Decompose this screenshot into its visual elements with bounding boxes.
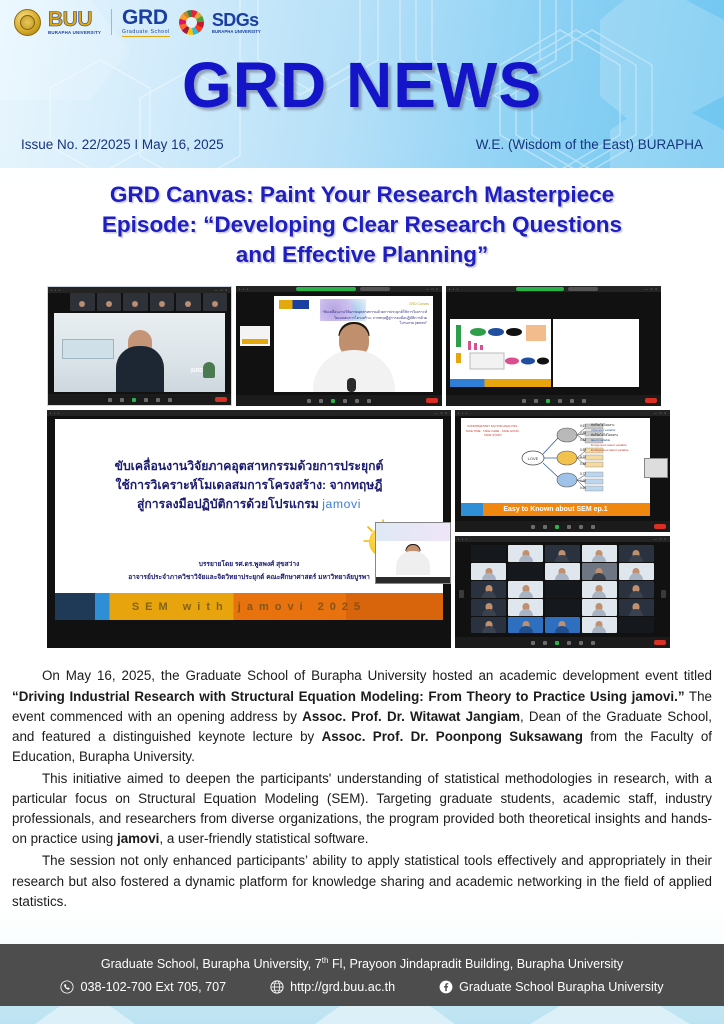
page-footer-wrapper: Graduate School, Burapha University, 7th… bbox=[0, 944, 724, 1024]
zoom-controls-pill bbox=[360, 287, 390, 291]
grd-logo-sub: Graduate School bbox=[122, 30, 170, 37]
sem-legend: สิ่งที่วัดได้โดยตรง observed variable สิ… bbox=[591, 423, 647, 453]
zoom-toolbar bbox=[236, 395, 442, 406]
gallery-prev-arrow[interactable] bbox=[459, 590, 464, 598]
slide-thai-line-1: ขับเคลื่อนงานวิจัยภาคอุตสาหกรรมด้วยการปร… bbox=[69, 457, 429, 476]
collage-photo-webcam-speaker: • • •— □ × jGRD bbox=[47, 286, 232, 406]
zoom-toolbar bbox=[48, 394, 231, 405]
grd-logo: GRD Graduate School bbox=[122, 7, 170, 37]
p1-bold-dean: Assoc. Prof. Dr. Witawat Jangiam bbox=[302, 709, 520, 724]
p1-bold-keynote: Assoc. Prof. Dr. Poonpong Suksawang bbox=[322, 729, 583, 744]
slide-page-indicator bbox=[55, 593, 95, 620]
event-title-line-3: and Effective Planning” bbox=[22, 240, 702, 270]
event-title-line-1: GRD Canvas: Paint Your Research Masterpi… bbox=[22, 180, 702, 210]
article-paragraph-1: On May 16, 2025, the Graduate School of … bbox=[12, 666, 712, 767]
zoom-toolbar bbox=[446, 395, 661, 406]
statistics-diagram bbox=[450, 319, 551, 379]
svg-text:0.67: 0.67 bbox=[580, 424, 586, 428]
collage-right-column: • • •— □ × CONFIRMATORY FACTOR ANALYSIS … bbox=[455, 410, 670, 648]
phone-icon bbox=[60, 980, 74, 994]
zoom-recording-indicator bbox=[296, 287, 356, 291]
sdgs-logo-word: SDGs bbox=[212, 11, 261, 29]
slide-chart-pane bbox=[450, 319, 551, 387]
svg-text:0.72: 0.72 bbox=[580, 472, 586, 476]
article-body: On May 16, 2025, the Graduate School of … bbox=[12, 666, 712, 911]
collage-row-1: • • •— □ × jGRD • • •— □ × bbox=[47, 286, 677, 406]
footer-phone-text: 038-102-700 Ext 705, 707 bbox=[80, 980, 226, 994]
inset-slide-backdrop bbox=[376, 523, 450, 541]
speaker-body bbox=[396, 551, 430, 575]
svg-text:0.59: 0.59 bbox=[580, 462, 586, 466]
plant-decor bbox=[203, 362, 215, 378]
buu-logo-word: BUU bbox=[48, 9, 101, 30]
zoom-titlebar: • • •— □ × bbox=[455, 536, 670, 542]
p1-bold-title: “Driving Industrial Research with Struct… bbox=[12, 689, 685, 704]
grd-logo-word: GRD bbox=[122, 7, 170, 28]
footer-contacts: 038-102-700 Ext 705, 707 http://grd.buu.… bbox=[60, 980, 663, 994]
svg-text:0.59: 0.59 bbox=[580, 448, 586, 452]
svg-text:0.74: 0.74 bbox=[580, 455, 586, 459]
svg-text:0.83: 0.83 bbox=[580, 438, 586, 442]
svg-text:0.69: 0.69 bbox=[580, 479, 586, 483]
footer-address-pre: Graduate School, Burapha University, 7 bbox=[101, 958, 322, 972]
slide-thai-line-2: ใช้การวิเคราะห์โมเดลสมการโครงสร้าง: จากท… bbox=[69, 476, 429, 495]
wall-art bbox=[62, 339, 114, 359]
svg-text:0.85: 0.85 bbox=[580, 431, 586, 435]
buu-logo: BUU BURAPHA UNIVERSITY bbox=[48, 9, 101, 35]
collage-photo-participants-gallery: • • •— □ × bbox=[455, 536, 670, 648]
article-paragraph-2: This initiative aimed to deepen the part… bbox=[12, 769, 712, 849]
newsletter-page: BUU BURAPHA UNIVERSITY GRD Graduate Scho… bbox=[0, 0, 724, 1024]
globe-icon bbox=[270, 980, 284, 994]
collage-row-2: • • •— □ × ขับเคลื่อนงานวิจัยภาคอุตสาหกร… bbox=[47, 410, 677, 648]
speaker-inset-video bbox=[644, 458, 668, 478]
logo-bar: BUU BURAPHA UNIVERSITY GRD Graduate Scho… bbox=[14, 7, 261, 37]
logo-divider bbox=[111, 9, 112, 35]
inset-nameplate bbox=[376, 577, 450, 583]
slide-thai-line-3-text: สู่การลงมือปฏิบัติการด้วยโปรแกรม bbox=[137, 497, 322, 511]
sem-legend-item-4-en: Endogenous latent variable bbox=[591, 448, 647, 453]
burapha-seal-icon bbox=[14, 9, 41, 36]
sdg-wheel-icon bbox=[179, 10, 204, 35]
presentation-slide: CONFIRMATORY FACTOR ANALYSIS · TAKE TIME… bbox=[461, 418, 650, 516]
footer-phone[interactable]: 038-102-700 Ext 705, 707 bbox=[60, 980, 226, 994]
zoom-toolbar bbox=[455, 521, 670, 532]
sdgs-logo-sub: BURAPHA UNIVERSITY bbox=[212, 30, 261, 34]
event-title: GRD Canvas: Paint Your Research Masterpi… bbox=[0, 180, 724, 270]
zoom-side-thumbnail bbox=[240, 326, 270, 346]
p1-text-1: On May 16, 2025, the Graduate School of … bbox=[42, 668, 712, 683]
collage-photo-main-title-slide: • • •— □ × ขับเคลื่อนงานวิจัยภาคอุตสาหกร… bbox=[47, 410, 451, 648]
page-title: GRD NEWS bbox=[0, 48, 724, 122]
p2-text-2: , a user-friendly statistical software. bbox=[159, 831, 368, 846]
slide-heading: GRD Canvas bbox=[409, 302, 429, 306]
footer-facebook[interactable]: Graduate School Burapha University bbox=[439, 980, 663, 994]
slide-thai-line-3: สู่การลงมือปฏิบัติการด้วยโปรแกรม jamovi bbox=[69, 495, 429, 514]
sem-banner: Easy to Known about SEM ep.1 bbox=[461, 503, 650, 516]
sdgs-logo: SDGs BURAPHA UNIVERSITY bbox=[212, 11, 261, 34]
collage-photo-sem-diagram: • • •— □ × CONFIRMATORY FACTOR ANALYSIS … bbox=[455, 410, 670, 532]
zoom-titlebar: • • •— □ × bbox=[455, 410, 670, 416]
footer-address-post: Fl, Prayoon Jindapradit Building, Buraph… bbox=[328, 958, 623, 972]
page-footer: Graduate School, Burapha University, 7th… bbox=[0, 944, 724, 1006]
speaker-body bbox=[116, 346, 164, 392]
zoom-recording-indicator bbox=[516, 287, 564, 291]
event-title-line-2: Episode: “Developing Clear Research Ques… bbox=[22, 210, 702, 240]
slide-thai-heading: ขับเคลื่อนงานวิจัยภาคอุตสาหกรรมด้วยการปร… bbox=[69, 457, 429, 514]
speaker-inset-video bbox=[375, 522, 451, 584]
photo-collage: • • •— □ × jGRD • • •— □ × bbox=[47, 286, 677, 648]
collage-photo-slide-speaker: • • •— □ × GRD Canvas “ขับเคลื่อนงานวิจั… bbox=[236, 286, 442, 406]
svg-text:LOVE: LOVE bbox=[528, 456, 539, 461]
sem-left-notes: CONFIRMATORY FACTOR ANALYSIS · TAKE TIME… bbox=[465, 424, 521, 437]
slide-ribbon-banner: SEM with jamovi 2025 bbox=[55, 593, 443, 620]
footer-website-text: http://grd.buu.ac.th bbox=[290, 980, 395, 994]
buu-logo-sub: BURAPHA UNIVERSITY bbox=[48, 31, 101, 35]
zoom-thumbnail-strip bbox=[70, 293, 227, 311]
zoom-controls-pill bbox=[568, 287, 598, 291]
zoom-toolbar bbox=[455, 637, 670, 648]
facebook-icon bbox=[439, 980, 453, 994]
svg-text:0.61: 0.61 bbox=[580, 486, 586, 490]
p2-bold-jamovi: jamovi bbox=[117, 831, 159, 846]
footer-website[interactable]: http://grd.buu.ac.th bbox=[270, 980, 395, 994]
slide-speaker-pane bbox=[553, 319, 639, 387]
sem-banner-corner bbox=[461, 503, 483, 516]
tagline-label: W.E. (Wisdom of the East) BURAPHA bbox=[476, 137, 703, 152]
issue-label: Issue No. 22/2025 I May 16, 2025 bbox=[21, 137, 224, 152]
slide-logo bbox=[279, 300, 309, 309]
page-header: BUU BURAPHA UNIVERSITY GRD Graduate Scho… bbox=[0, 0, 724, 168]
slide-footer-band bbox=[450, 379, 551, 387]
article-paragraph-3: The session not only enhanced participan… bbox=[12, 851, 712, 911]
gallery-next-arrow[interactable] bbox=[661, 590, 666, 598]
footer-address: Graduate School, Burapha University, 7th… bbox=[101, 956, 623, 971]
zoom-titlebar: • • •— □ × bbox=[47, 410, 451, 416]
video-nameplate: jGRD bbox=[191, 368, 204, 374]
collage-photo-statistics-slide: • • •— □ × bbox=[446, 286, 661, 406]
footer-facebook-text: Graduate School Burapha University bbox=[459, 980, 663, 994]
presentation-slide: ขับเคลื่อนงานวิจัยภาคอุตสาหกรรมด้วยการปร… bbox=[55, 419, 443, 620]
microphone bbox=[347, 378, 356, 392]
zoom-main-video: jGRD bbox=[54, 313, 225, 392]
presentation-slide: GRD Canvas “ขับเคลื่อนงานวิจัยภาคอุตสาหก… bbox=[274, 296, 433, 392]
participants-grid bbox=[471, 545, 654, 633]
jamovi-brand: jamovi bbox=[322, 497, 361, 511]
slide-thai-title: “ขับเคลื่อนงานวิจัยภาคอุตสาหกรรมด้วยการป… bbox=[322, 310, 427, 326]
slide-ribbon-text: SEM with jamovi 2025 bbox=[55, 601, 443, 613]
